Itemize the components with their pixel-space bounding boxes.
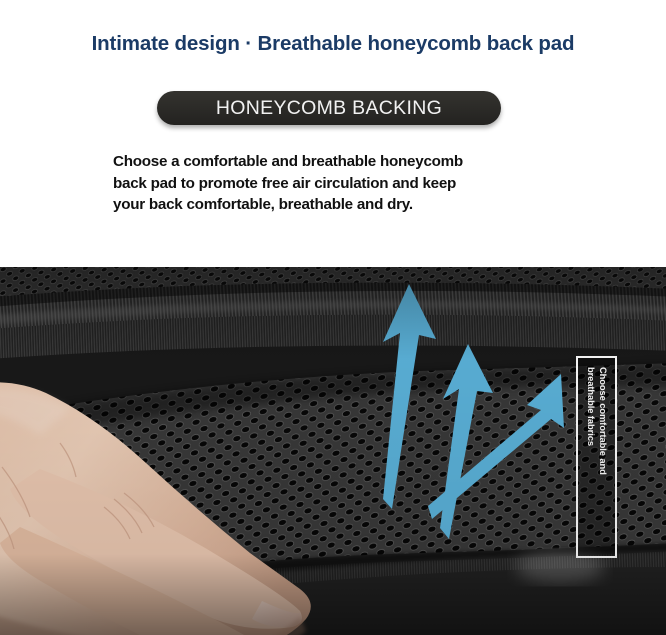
description-line-2: back pad to promote free air circulation… bbox=[113, 173, 553, 195]
description-line-1: Choose a comfortable and breathable hone… bbox=[113, 151, 553, 173]
hand-pressing-mesh bbox=[0, 377, 310, 635]
caption-box bbox=[577, 357, 616, 557]
airflow-arrow-3 bbox=[428, 374, 565, 520]
product-feature-panel: Intimate design · Breathable honeycomb b… bbox=[0, 0, 666, 635]
description-line-3: your back comfortable, breathable and dr… bbox=[113, 194, 553, 216]
text-panel: Intimate design · Breathable honeycomb b… bbox=[0, 0, 666, 267]
product-photo: Choose comfortable and breathable fabric… bbox=[0, 267, 666, 635]
status-badge: HONEYCOMB BACKING bbox=[157, 91, 501, 125]
page-title: Intimate design · Breathable honeycomb b… bbox=[0, 32, 666, 56]
description-text: Choose a comfortable and breathable hone… bbox=[113, 151, 553, 216]
badge-label: HONEYCOMB BACKING bbox=[216, 97, 442, 120]
